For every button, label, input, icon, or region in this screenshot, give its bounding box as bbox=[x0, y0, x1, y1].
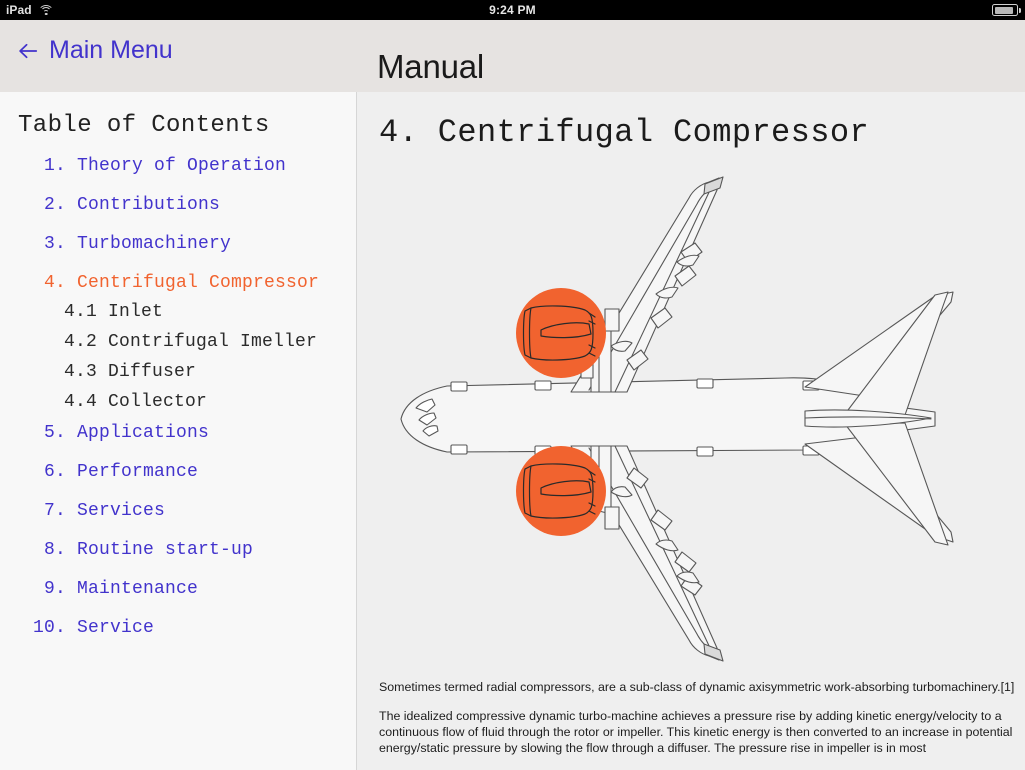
section-title: 4. Centrifugal Compressor bbox=[357, 92, 1025, 150]
back-button-label: Main Menu bbox=[49, 38, 173, 63]
toc-item-1[interactable]: 1. Theory of Operation bbox=[0, 157, 356, 175]
status-bar-left: iPad bbox=[0, 3, 54, 17]
toc-subitem-4-2-contrifugal-imeller[interactable]: 4.2 Contrifugal Imeller bbox=[0, 333, 356, 351]
pylon-segment bbox=[605, 309, 619, 331]
fuselage-door bbox=[451, 445, 467, 454]
toc-item-2[interactable]: 2. Contributions bbox=[0, 196, 356, 214]
toc-sublist-section-4: 4.1 Inlet 4.2 Contrifugal Imeller 4.3 Di… bbox=[0, 303, 356, 411]
toc-item-7[interactable]: 7. Services bbox=[0, 502, 356, 520]
ipad-screen: iPad 9:24 PM Main Menu Manual Table of C… bbox=[0, 0, 1025, 770]
toc-item-4-centrifugal-compressor[interactable]: 4. Centrifugal Compressor bbox=[0, 274, 356, 292]
vertical-fin-lower bbox=[845, 423, 948, 545]
navigation-bar: Main Menu Manual bbox=[0, 20, 1025, 92]
toc-subitem-4-1-inlet[interactable]: 4.1 Inlet bbox=[0, 303, 356, 321]
toc-item-8[interactable]: 8. Routine start-up bbox=[0, 541, 356, 559]
status-bar-right bbox=[992, 0, 1018, 20]
toc-item-3[interactable]: 3. Turbomachinery bbox=[0, 235, 356, 253]
aircraft-top-view-diagram bbox=[375, 164, 995, 676]
wifi-icon bbox=[39, 5, 54, 16]
toc-subitem-4-3-diffuser[interactable]: 4.3 Diffuser bbox=[0, 363, 356, 381]
fuselage-door bbox=[535, 381, 551, 390]
toc-item-9[interactable]: 9. Maintenance bbox=[0, 580, 356, 598]
toc-item-10[interactable]: 10. Service bbox=[0, 619, 356, 637]
pylon-segment bbox=[605, 507, 619, 529]
paragraph-1: Sometimes termed radial compressors, are… bbox=[379, 680, 1017, 696]
back-to-main-menu-button[interactable]: Main Menu bbox=[17, 38, 173, 63]
toc-subitem-4-4-collector[interactable]: 4.4 Collector bbox=[0, 393, 356, 411]
content-pane: 4. Centrifugal Compressor bbox=[357, 92, 1025, 770]
fuselage-door bbox=[697, 379, 713, 388]
fuselage-door bbox=[697, 447, 713, 456]
toc-list: 1. Theory of Operation 2. Contributions … bbox=[0, 157, 356, 637]
page-title: Manual bbox=[377, 50, 484, 83]
battery-icon bbox=[992, 4, 1018, 16]
status-bar-clock: 9:24 PM bbox=[0, 3, 1025, 17]
paragraph-2: The idealized compressive dynamic turbo-… bbox=[379, 709, 1017, 757]
table-of-contents-sidebar: Table of Contents 1. Theory of Operation… bbox=[0, 92, 357, 770]
fuselage-door bbox=[451, 382, 467, 391]
arrow-left-icon bbox=[17, 40, 39, 62]
toc-item-6[interactable]: 6. Performance bbox=[0, 463, 356, 481]
split-view: Table of Contents 1. Theory of Operation… bbox=[0, 92, 1025, 770]
battery-fill bbox=[995, 7, 1013, 14]
toc-heading: Table of Contents bbox=[0, 114, 356, 138]
status-bar: iPad 9:24 PM bbox=[0, 0, 1025, 20]
body-text: Sometimes termed radial compressors, are… bbox=[379, 680, 1017, 757]
carrier-label: iPad bbox=[6, 3, 32, 17]
toc-item-5[interactable]: 5. Applications bbox=[0, 424, 356, 442]
